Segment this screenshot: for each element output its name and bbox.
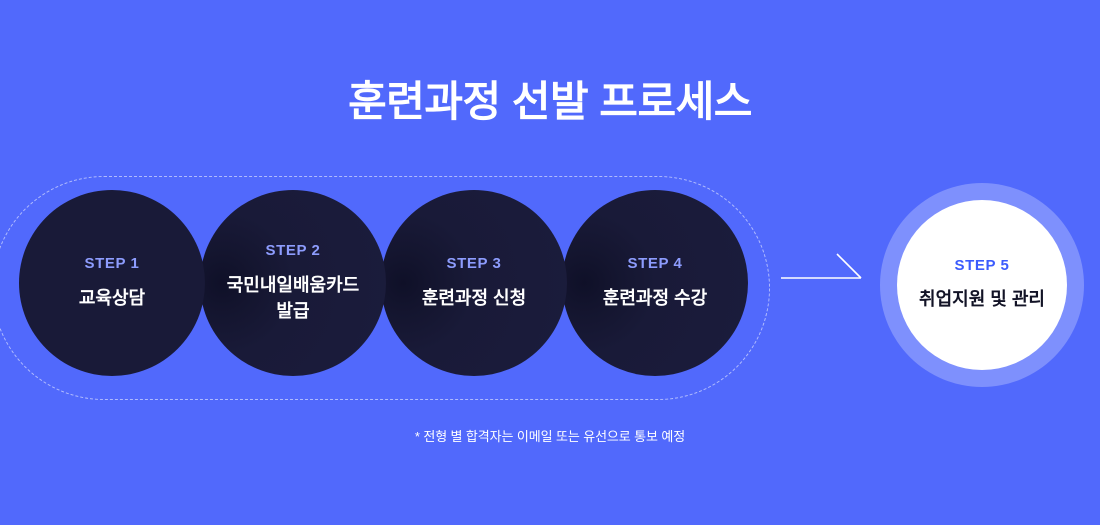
process-diagram: 훈련과정 선발 프로세스 STEP 1 교육상담 STEP 2 국민내일배움카드… xyxy=(0,0,1100,525)
page-title: 훈련과정 선발 프로세스 xyxy=(0,78,1100,126)
footnote-text: * 전형 별 합격자는 이메일 또는 유선으로 통보 예정 xyxy=(0,426,1100,445)
step-3-text: 훈련과정 신청 xyxy=(422,286,526,312)
step-circle-5-ring: STEP 5 취업지원 및 관리 xyxy=(880,183,1084,387)
step-4-text: 훈련과정 수강 xyxy=(603,286,707,312)
step-1-label: STEP 1 xyxy=(84,255,139,272)
step-circle-2[interactable]: STEP 2 국민내일배움카드 발급 xyxy=(200,190,386,376)
step-2-label: STEP 2 xyxy=(265,242,320,259)
step-2-text: 국민내일배움카드 발급 xyxy=(227,273,359,324)
step-1-text: 교육상담 xyxy=(79,286,145,312)
step-circle-1[interactable]: STEP 1 교육상담 xyxy=(19,190,205,376)
arrow-right-icon xyxy=(781,248,873,292)
step-circle-4[interactable]: STEP 4 훈련과정 수강 xyxy=(562,190,748,376)
step-3-label: STEP 3 xyxy=(446,255,501,272)
step-5-text: 취업지원 및 관리 xyxy=(919,287,1045,313)
step-circle-5[interactable]: STEP 5 취업지원 및 관리 xyxy=(897,200,1067,370)
step-circle-3[interactable]: STEP 3 훈련과정 신청 xyxy=(381,190,567,376)
step-4-label: STEP 4 xyxy=(627,255,682,272)
step-5-label: STEP 5 xyxy=(954,257,1009,274)
